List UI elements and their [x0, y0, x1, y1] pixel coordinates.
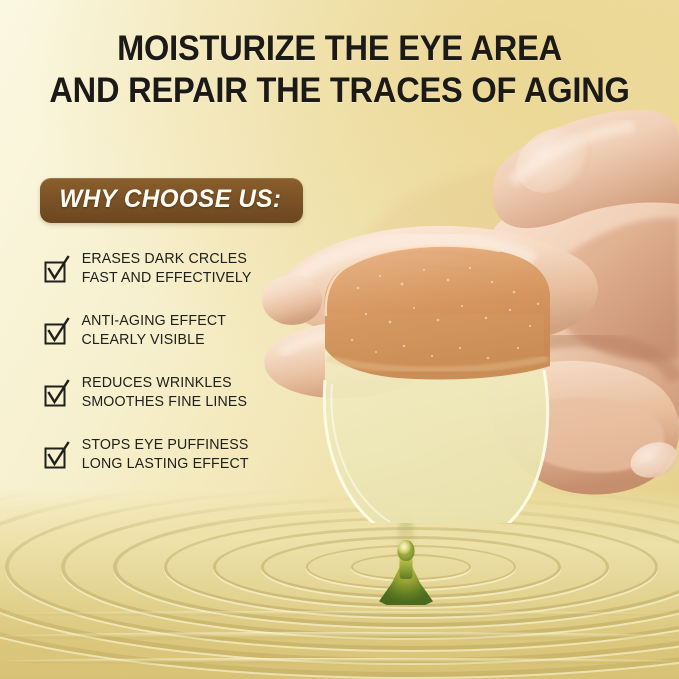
- benefit-line-2: FAST AND EFFECTIVELY: [82, 269, 252, 288]
- benefit-item: REDUCES WRINKLES SMOOTHES FINE LINES: [44, 374, 324, 411]
- benefit-item: STOPS EYE PUFFINESS LONG LASTING EFFECT: [44, 436, 324, 473]
- checkbox-checked-icon: [44, 441, 70, 469]
- benefit-line-2: SMOOTHES FINE LINES: [82, 393, 247, 412]
- benefit-line-1: ERASES DARK CRCLES: [82, 251, 247, 267]
- benefit-item: ERASES DARK CRCLES FAST AND EFFECTIVELY: [44, 250, 324, 287]
- headline-line-1: MOISTURIZE THE EYE AREA: [24, 28, 655, 70]
- product-poster: MOISTURIZE THE EYE AREA AND REPAIR THE T…: [0, 0, 679, 679]
- why-choose-us-banner: WHY CHOOSE US:: [40, 178, 303, 223]
- benefit-line-1: ANTI-AGING EFFECT: [81, 313, 226, 329]
- page-title: MOISTURIZE THE EYE AREA AND REPAIR THE T…: [24, 28, 655, 112]
- benefit-text: ERASES DARK CRCLES FAST AND EFFECTIVELY: [82, 250, 252, 287]
- benefit-text: REDUCES WRINKLES SMOOTHES FINE LINES: [82, 374, 247, 411]
- benefit-item: ANTI-AGING EFFECT CLEARLY VISIBLE: [44, 312, 324, 349]
- suspended-droplet-icon: [398, 540, 415, 561]
- hand-holding-eye-patch: [262, 108, 679, 523]
- benefit-line-1: STOPS EYE PUFFINESS: [82, 437, 249, 453]
- checkbox-checked-icon: [44, 255, 70, 283]
- pool-wave-band: [0, 658, 679, 665]
- why-choose-us-label: WHY CHOOSE US:: [59, 185, 281, 214]
- benefits-list: ERASES DARK CRCLES FAST AND EFFECTIVELY …: [44, 250, 324, 498]
- pool-wave-band: [0, 611, 679, 617]
- benefit-line-2: CLEARLY VISIBLE: [81, 331, 226, 350]
- pool-wave-band: [0, 632, 679, 641]
- benefit-line-1: REDUCES WRINKLES: [82, 375, 232, 391]
- benefit-text: ANTI-AGING EFFECT CLEARLY VISIBLE: [81, 312, 226, 349]
- benefit-line-2: LONG LASTING EFFECT: [82, 455, 249, 474]
- checkbox-checked-icon: [44, 379, 70, 407]
- benefit-text: STOPS EYE PUFFINESS LONG LASTING EFFECT: [82, 436, 249, 473]
- headline-line-2: AND REPAIR THE TRACES OF AGING: [24, 70, 655, 112]
- checkbox-checked-icon: [44, 317, 70, 345]
- oil-splash: [378, 549, 434, 605]
